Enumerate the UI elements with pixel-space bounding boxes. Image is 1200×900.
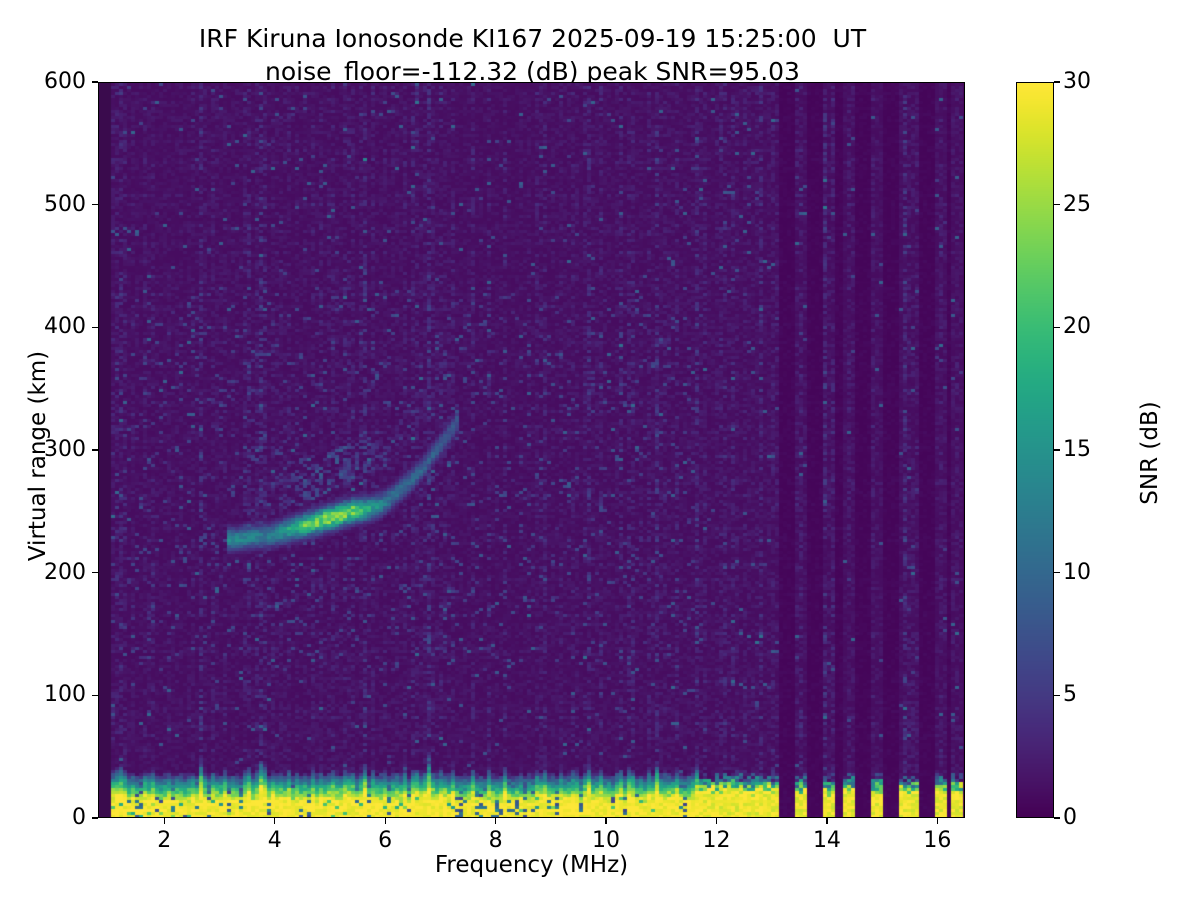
- y-tick-mark: [92, 449, 98, 450]
- figure-title: IRF Kiruna Ionosonde KI167 2025-09-19 15…: [0, 22, 1065, 88]
- colorbar-tick-mark: [1054, 449, 1060, 450]
- x-tick-mark: [826, 818, 827, 824]
- colorbar-tick-label: 0: [1063, 807, 1123, 829]
- colorbar-tick-mark: [1054, 695, 1060, 696]
- x-tick-mark: [164, 818, 165, 824]
- y-tick-mark: [92, 327, 98, 328]
- x-tick-mark: [385, 818, 386, 824]
- colorbar-label: SNR (dB): [1137, 323, 1163, 583]
- colorbar-tick-mark: [1054, 817, 1060, 818]
- y-tick-mark: [92, 572, 98, 573]
- x-tick-label: 6: [345, 830, 425, 852]
- y-tick-mark: [92, 81, 98, 82]
- x-tick-label: 10: [566, 830, 646, 852]
- x-tick-mark: [274, 818, 275, 824]
- x-tick-label: 12: [676, 830, 756, 852]
- x-tick-label: 16: [897, 830, 977, 852]
- colorbar-tick-mark: [1054, 327, 1060, 328]
- colorbar-tick-label: 30: [1063, 71, 1123, 93]
- x-tick-mark: [716, 818, 717, 824]
- y-tick-mark: [92, 204, 98, 205]
- x-tick-label: 8: [456, 830, 536, 852]
- snr-colorbar: [1016, 82, 1054, 818]
- ionogram-figure: IRF Kiruna Ionosonde KI167 2025-09-19 15…: [0, 0, 1200, 900]
- x-tick-label: 4: [235, 830, 315, 852]
- colorbar-tick-label: 25: [1063, 194, 1123, 216]
- y-tick-mark: [92, 695, 98, 696]
- colorbar-tick-mark: [1054, 204, 1060, 205]
- x-tick-mark: [937, 818, 938, 824]
- snr-colorbar-canvas: [1017, 83, 1053, 817]
- y-axis-label: Virtual range (km): [25, 326, 51, 586]
- y-tick-mark: [92, 817, 98, 818]
- x-tick-label: 14: [787, 830, 867, 852]
- colorbar-tick-label: 15: [1063, 439, 1123, 461]
- y-tick-label: 0: [0, 807, 86, 829]
- y-tick-label: 500: [0, 194, 86, 216]
- y-tick-label: 600: [0, 71, 86, 93]
- y-tick-label: 100: [0, 684, 86, 706]
- ionogram-heatmap-axes: [98, 82, 965, 818]
- x-tick-mark: [605, 818, 606, 824]
- colorbar-tick-label: 5: [1063, 684, 1123, 706]
- colorbar-tick-mark: [1054, 81, 1060, 82]
- colorbar-tick-label: 10: [1063, 562, 1123, 584]
- colorbar-tick-mark: [1054, 572, 1060, 573]
- x-tick-label: 2: [124, 830, 204, 852]
- ionogram-heatmap-canvas: [99, 83, 965, 818]
- colorbar-tick-label: 20: [1063, 316, 1123, 338]
- x-tick-mark: [495, 818, 496, 824]
- x-axis-label: Frequency (MHz): [98, 852, 965, 878]
